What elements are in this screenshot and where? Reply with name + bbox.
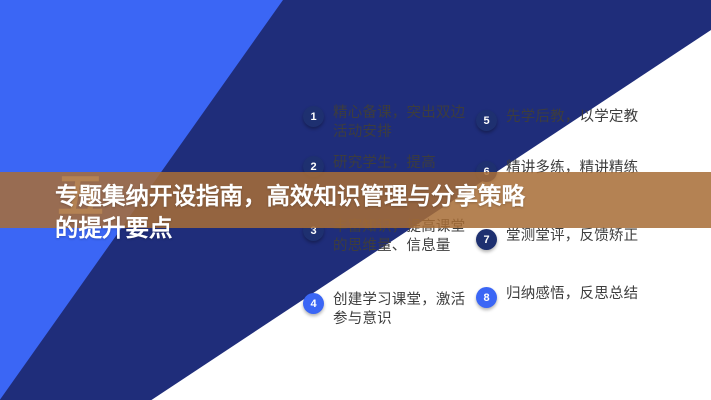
list-item: 5 先学后教，以学定教 xyxy=(476,108,708,131)
point-badge: 5 xyxy=(476,110,497,131)
slide-canvas: 五 1 精心备课，突出双边活动安排 2 研究学生，提高 3 丰富知识，提高课堂的… xyxy=(0,0,711,400)
point-text: 先学后教，以学定教 xyxy=(506,108,638,127)
point-text: 创建学习课堂，激活参与意识 xyxy=(333,291,473,329)
point-badge: 8 xyxy=(476,287,497,308)
point-text: 研究学生，提高 xyxy=(333,154,436,173)
list-item: 4 创建学习课堂，激活参与意识 xyxy=(303,291,473,329)
point-badge: 1 xyxy=(303,106,324,127)
caption-line-1: 专题集纳开设指南，高效知识管理与分享策略 xyxy=(55,183,705,211)
list-item: 1 精心备课，突出双边活动安排 xyxy=(303,104,473,142)
caption-line-2: 的提升要点 xyxy=(55,215,705,243)
point-text: 归纳感悟，反思总结 xyxy=(506,285,638,304)
point-text: 精心备课，突出双边活动安排 xyxy=(333,104,473,142)
list-item: 8 归纳感悟，反思总结 xyxy=(476,285,708,308)
point-badge: 4 xyxy=(303,293,324,314)
